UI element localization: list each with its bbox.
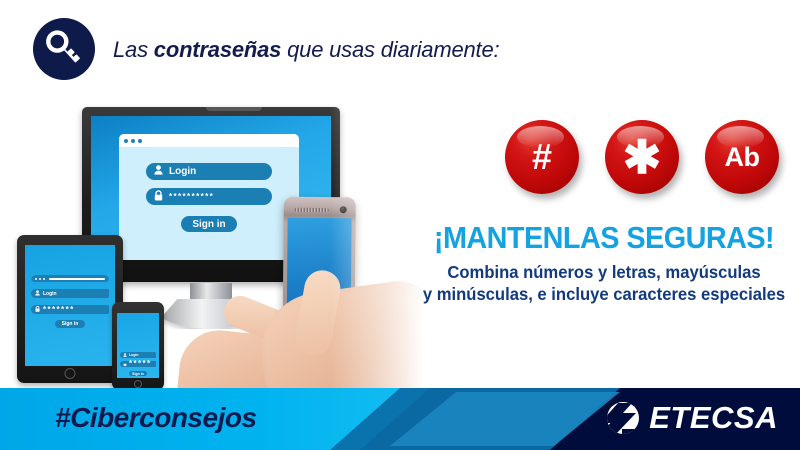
address-bar[interactable] <box>149 138 280 143</box>
campaign-hashtag: #Ciberconsejos <box>55 402 257 434</box>
window-dot-icon <box>43 278 45 280</box>
username-label: Login <box>129 353 139 357</box>
small-phone-home-button[interactable] <box>134 380 142 388</box>
password-field[interactable]: ***** <box>120 361 156 367</box>
window-dot-icon <box>124 139 128 143</box>
hash-badge-symbol: # <box>532 139 552 175</box>
window-dot-icon <box>138 139 142 143</box>
address-bar[interactable] <box>49 278 105 280</box>
password-field[interactable]: ******* <box>31 305 109 314</box>
window-dot-icon <box>35 278 37 280</box>
device-illustration: Login ********** Sign in <box>0 92 440 392</box>
letters-badge: Ab <box>705 120 779 194</box>
lock-icon <box>35 306 40 314</box>
asterisk-badge: ✱ <box>605 120 679 194</box>
browser-toolbar <box>119 134 299 147</box>
small-phone-device: Login ***** Sign in <box>112 302 164 390</box>
sign-in-button[interactable]: Sign in <box>181 216 237 232</box>
etecsa-wordmark: ETECSA <box>649 400 778 436</box>
lock-icon <box>154 190 163 204</box>
password-value: ***** <box>129 360 152 368</box>
key-icon <box>33 18 95 80</box>
username-field[interactable]: Login <box>146 163 272 180</box>
password-value: ******* <box>43 306 75 314</box>
header-text-suffix: que usas diariamente: <box>281 37 499 62</box>
lock-icon <box>123 362 127 367</box>
footer: #Ciberconsejos E <box>0 388 800 450</box>
window-dot-icon <box>39 278 41 280</box>
header-text-prefix: Las <box>113 37 154 62</box>
browser-toolbar <box>31 275 109 282</box>
etecsa-logo-icon <box>606 401 640 435</box>
letters-badge-symbol: Ab <box>725 144 760 171</box>
phone-camera-icon <box>340 206 347 213</box>
headline: ¡MANTENLAS SEGURAS! <box>422 222 787 255</box>
password-field[interactable]: ********** <box>146 188 272 205</box>
login-form-small-phone: Login ***** Sign in <box>120 349 156 378</box>
username-field[interactable]: Login <box>31 289 109 298</box>
browser-window-monitor: Login ********** Sign in <box>119 134 299 260</box>
subtext: Combina números y letras, mayúsculas y m… <box>418 261 790 306</box>
tablet-screen: Login ******* Sign in <box>25 245 115 366</box>
username-label: Login <box>43 291 57 297</box>
window-dot-icon <box>131 139 135 143</box>
small-phone-screen: Login ***** Sign in <box>117 313 159 378</box>
login-form-monitor: Login ********** Sign in <box>119 147 299 232</box>
header-title: Las contraseñas que usas diariamente: <box>113 37 499 63</box>
hash-badge: # <box>505 120 579 194</box>
message-block: ¡MANTENLAS SEGURAS! Combina números y le… <box>408 222 800 305</box>
etecsa-logo: ETECSA <box>606 400 778 436</box>
symbol-badges: # ✱ Ab <box>505 112 795 202</box>
subtext-line-2: y minúsculas, e incluye caracteres espec… <box>423 284 785 304</box>
user-icon <box>123 353 127 358</box>
sign-in-button[interactable]: Sign in <box>129 371 147 376</box>
tablet-device: Login ******* Sign in <box>17 235 123 383</box>
tablet-home-button[interactable] <box>65 368 76 379</box>
header-text-bold: contraseñas <box>154 37 281 62</box>
login-form-tablet: Login ******* Sign in <box>31 275 109 339</box>
user-icon <box>154 165 163 178</box>
poster-root: Las contraseñas que usas diariamente: <box>0 0 800 450</box>
header: Las contraseñas que usas diariamente: <box>0 0 800 100</box>
username-label: Login <box>169 166 196 177</box>
phone-speaker-icon <box>295 208 329 212</box>
subtext-line-1: Combina números y letras, mayúsculas <box>447 262 760 282</box>
password-value: ********** <box>169 193 214 201</box>
asterisk-badge-symbol: ✱ <box>623 134 662 180</box>
sign-in-button[interactable]: Sign in <box>55 320 85 328</box>
user-icon <box>35 290 40 298</box>
username-field[interactable]: Login <box>120 352 156 358</box>
